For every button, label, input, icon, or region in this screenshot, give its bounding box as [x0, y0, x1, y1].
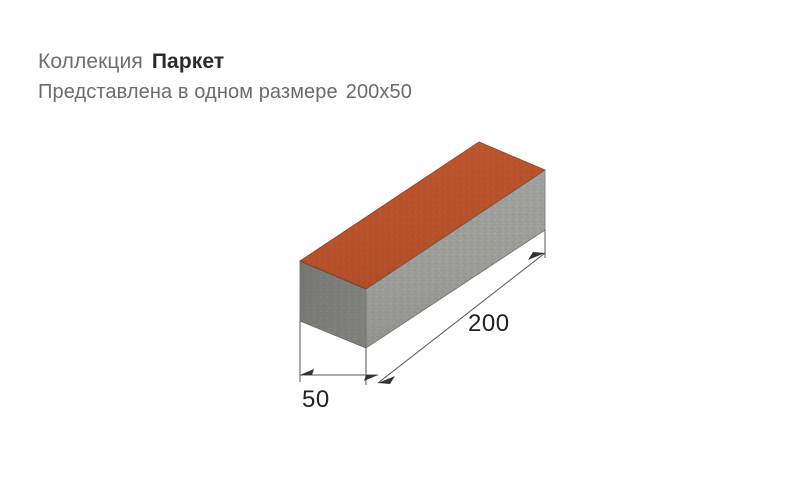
availability-text: Представлена в одном размере	[38, 81, 338, 103]
collection-name: Паркет	[152, 50, 224, 73]
paving-stone-svg	[270, 120, 590, 420]
size-text: 200x50	[346, 81, 412, 103]
collection-label: Коллекция	[38, 50, 143, 73]
collection-title-line: КоллекцияПаркет	[38, 48, 658, 75]
page-root: КоллекцияПаркет Представлена в одном раз…	[0, 0, 800, 496]
header: КоллекцияПаркет Представлена в одном раз…	[38, 48, 658, 105]
availability-line: Представлена в одном размере200x50	[38, 79, 658, 105]
dimension-label-length: 200	[468, 310, 510, 338]
dimension-label-width: 50	[302, 386, 330, 414]
paving-stone-illustration	[270, 120, 590, 420]
